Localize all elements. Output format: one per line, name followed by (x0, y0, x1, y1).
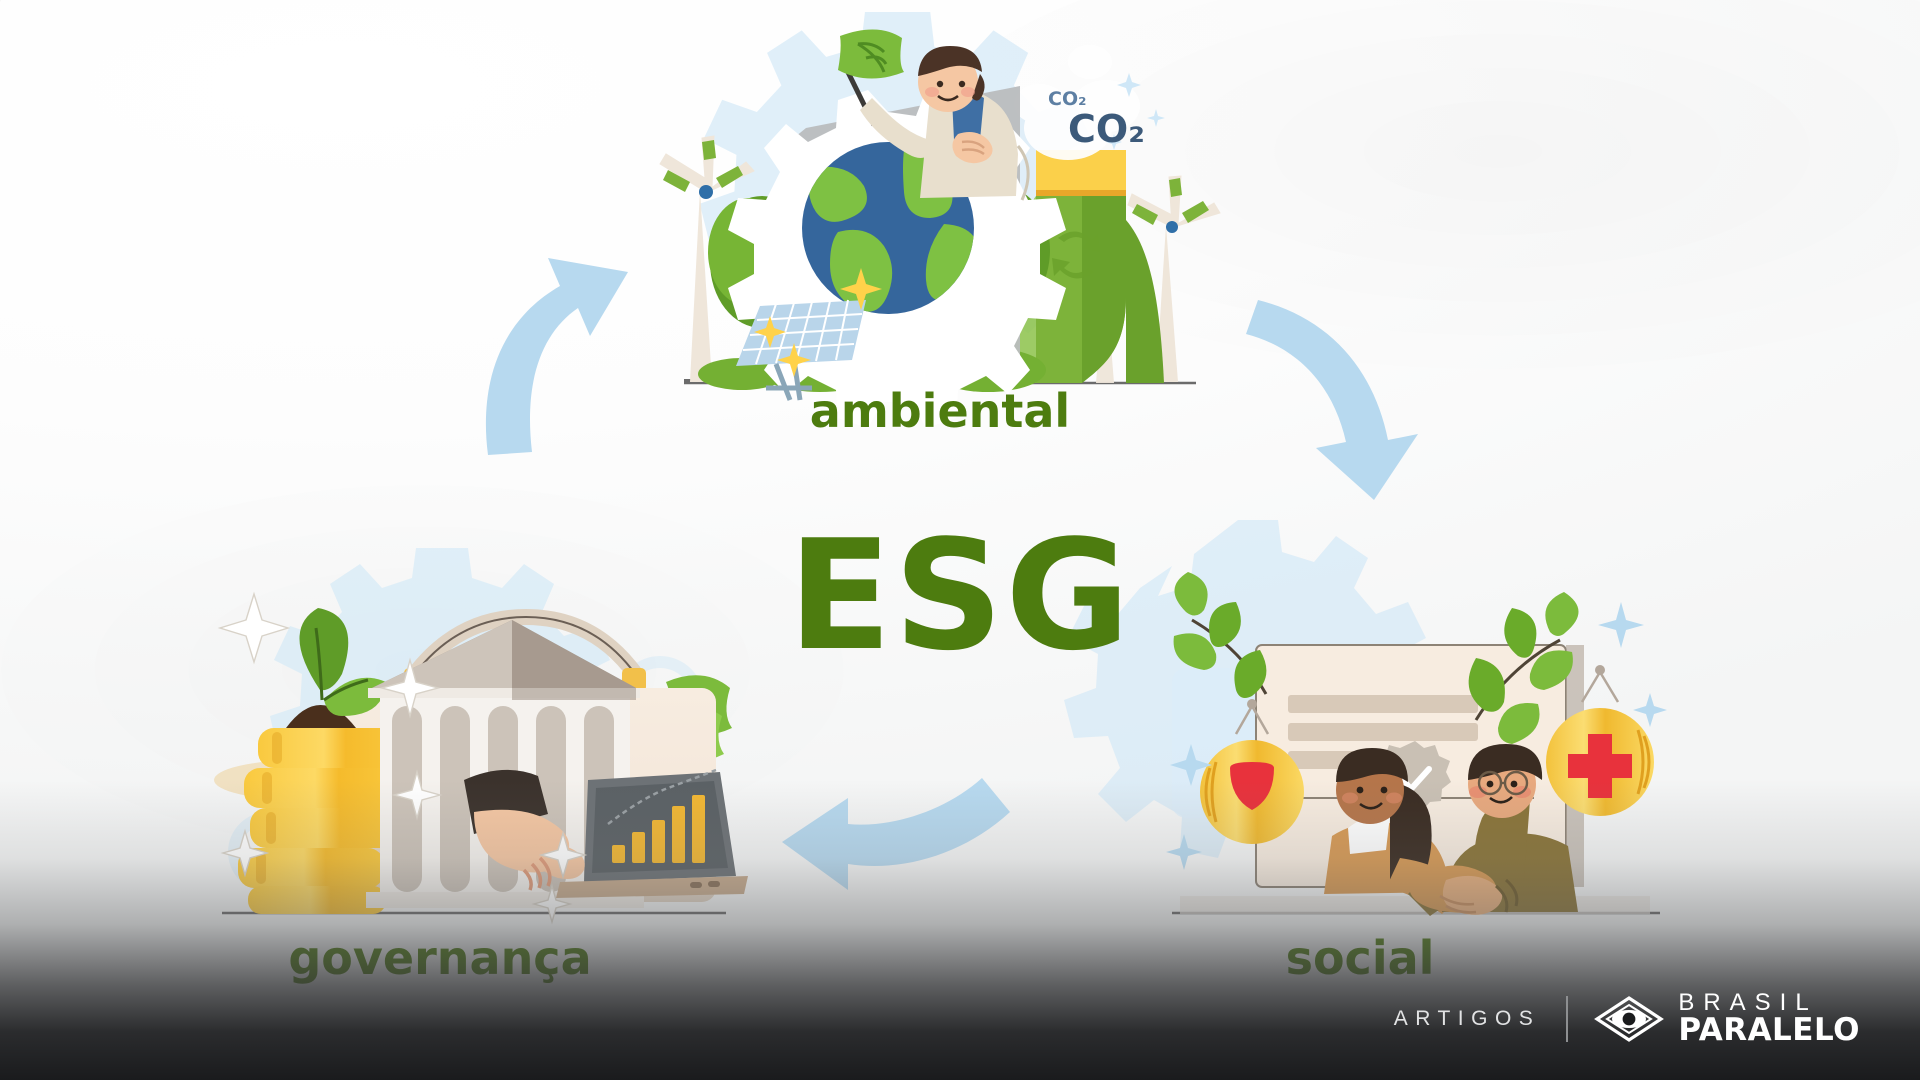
brand-divider (1566, 996, 1568, 1042)
co2-label-large: CO₂ (1068, 107, 1145, 151)
brasil-paralelo-logo: BRASIL PARALELO (1594, 991, 1860, 1046)
section-label-artigos: ARTIGOS (1394, 1007, 1541, 1031)
pillar-label-social: social (1080, 935, 1640, 981)
pillar-label-ambiental: ambiental (660, 388, 1220, 434)
brand-name-bottom: PARALELO (1678, 1015, 1860, 1046)
branding-bar: ARTIGOS BRASIL PARALELO (1394, 991, 1860, 1046)
esg-infographic: CO₂ CO₂ ESG ambiental governança social … (0, 0, 1920, 1080)
pillar-label-governanca: governança (160, 935, 720, 981)
diamond-eye-icon (1594, 995, 1664, 1043)
esg-wordmark: ESG (0, 520, 1920, 672)
